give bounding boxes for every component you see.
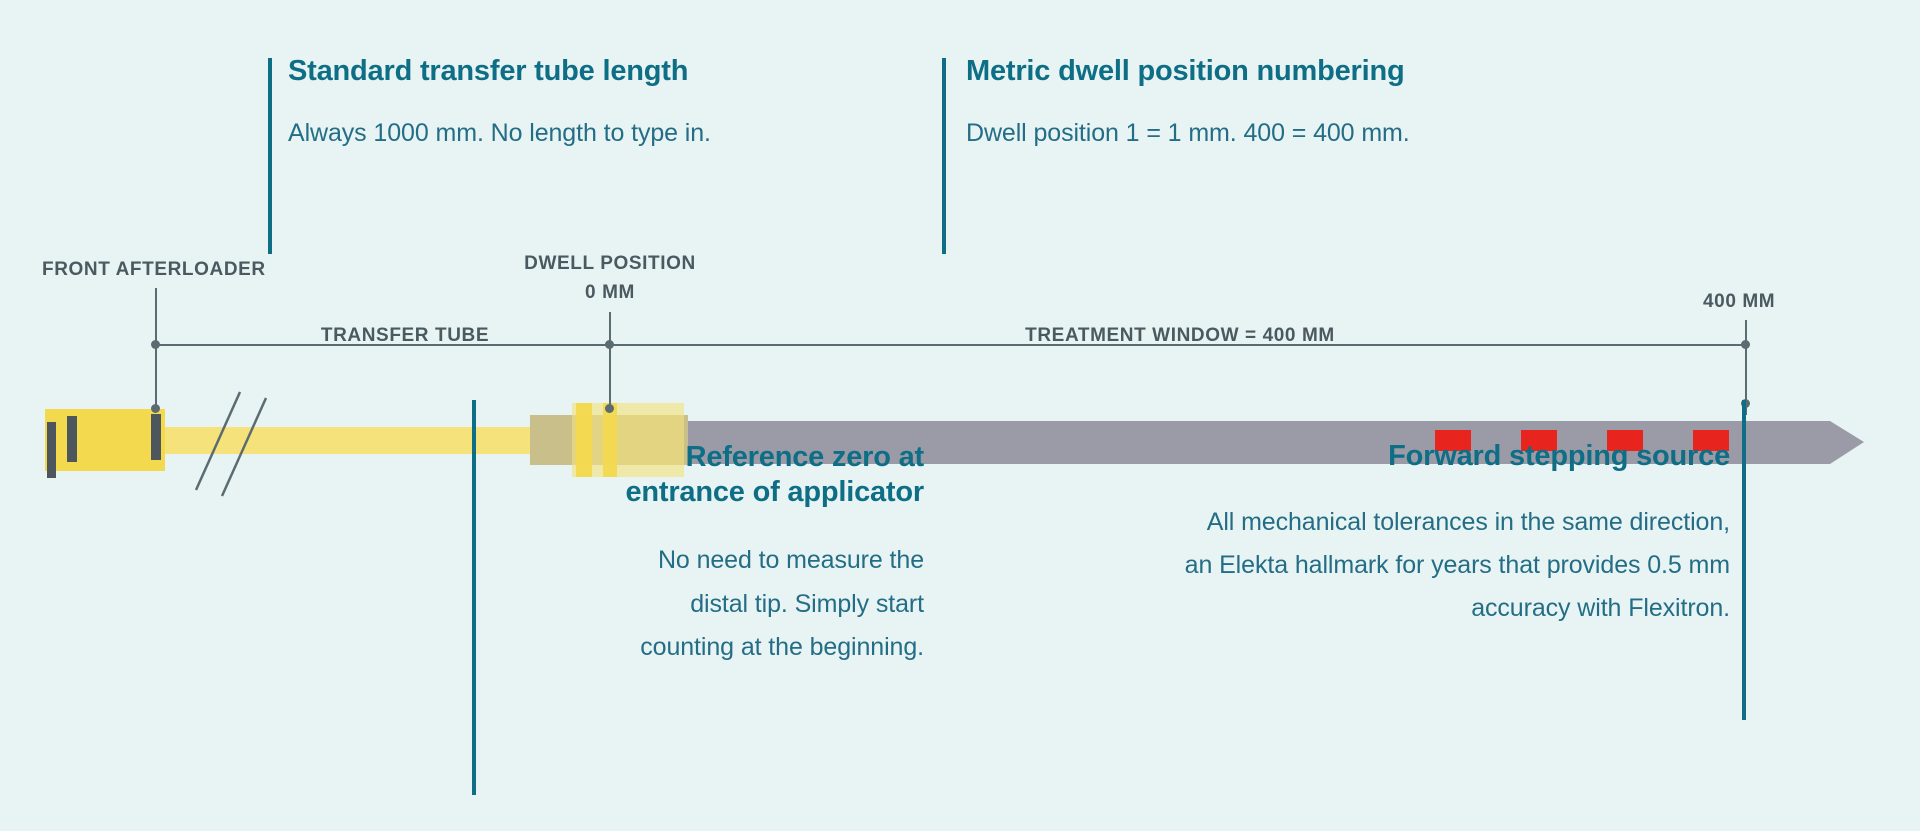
callout-metric-dwell-position-numbering: Metric dwell position numbering Dwell po… [942,55,1582,255]
callout-rule [942,58,946,254]
afterloader-connector-body [45,409,165,471]
callout-title: Forward stepping source [960,440,1730,473]
transfer-tube-dim-line [159,344,607,346]
callout-rule [1742,400,1746,720]
callout-title: Standard transfer tube length [288,55,711,88]
front-afterloader-leader-dot-bottom [151,404,160,413]
callout-title-line2: entrance of applicator [625,476,924,508]
callout-text-line3: counting at the beginning. [640,633,924,661]
callout-title: Reference zero at entrance of applicator [504,440,924,511]
callout-text-line1: No need to measure the [658,546,924,574]
callout-body: Reference zero at entrance of applicator… [504,440,924,670]
connector-pin-left [47,422,56,478]
callout-text-line2: distal tip. Simply start [690,590,924,618]
callout-forward-stepping-source: Forward stepping source All mechanical t… [960,440,1730,630]
callout-reference-zero: Reference zero at entrance of applicator… [472,400,942,795]
callout-text-line2: an Elekta hallmark for years that provid… [1185,551,1730,579]
callout-text-line3: accuracy with Flexitron. [1471,594,1730,622]
callout-forward-stepping-rule [1742,400,1752,720]
end-position-label: 400 MM [1703,291,1775,313]
front-afterloader-label: FRONT AFTERLOADER [42,259,266,281]
callout-title: Metric dwell position numbering [966,55,1410,88]
callout-text-line1: All mechanical tolerances in the same di… [1207,508,1730,536]
dwell-position-label-line1: DWELL POSITION [510,253,710,275]
callout-title-line1: Reference zero at [686,441,924,473]
connector-pin-right [151,414,161,460]
dwell-position-leader [609,312,611,412]
dwell-position-label-line2: 0 MM [510,282,710,304]
callout-text: Dwell position 1 = 1 mm. 400 = 400 mm. [966,115,1410,151]
diagram-canvas: FRONT AFTERLOADER DWELL POSITION 0 MM 40… [0,0,1920,831]
callout-rule [268,58,272,254]
connector-pin-mid [67,416,77,462]
callout-body: Standard transfer tube length Always 100… [288,55,711,152]
callout-text: No need to measure the distal tip. Simpl… [504,539,924,670]
callout-body: Metric dwell position numbering Dwell po… [966,55,1410,152]
callout-text: All mechanical tolerances in the same di… [960,501,1730,630]
callout-text: Always 1000 mm. No length to type in. [288,115,711,151]
treatment-window-dim-line [613,344,1745,346]
callout-standard-transfer-tube-length: Standard transfer tube length Always 100… [268,55,888,255]
callout-rule [472,400,476,795]
front-afterloader-leader [155,288,157,411]
